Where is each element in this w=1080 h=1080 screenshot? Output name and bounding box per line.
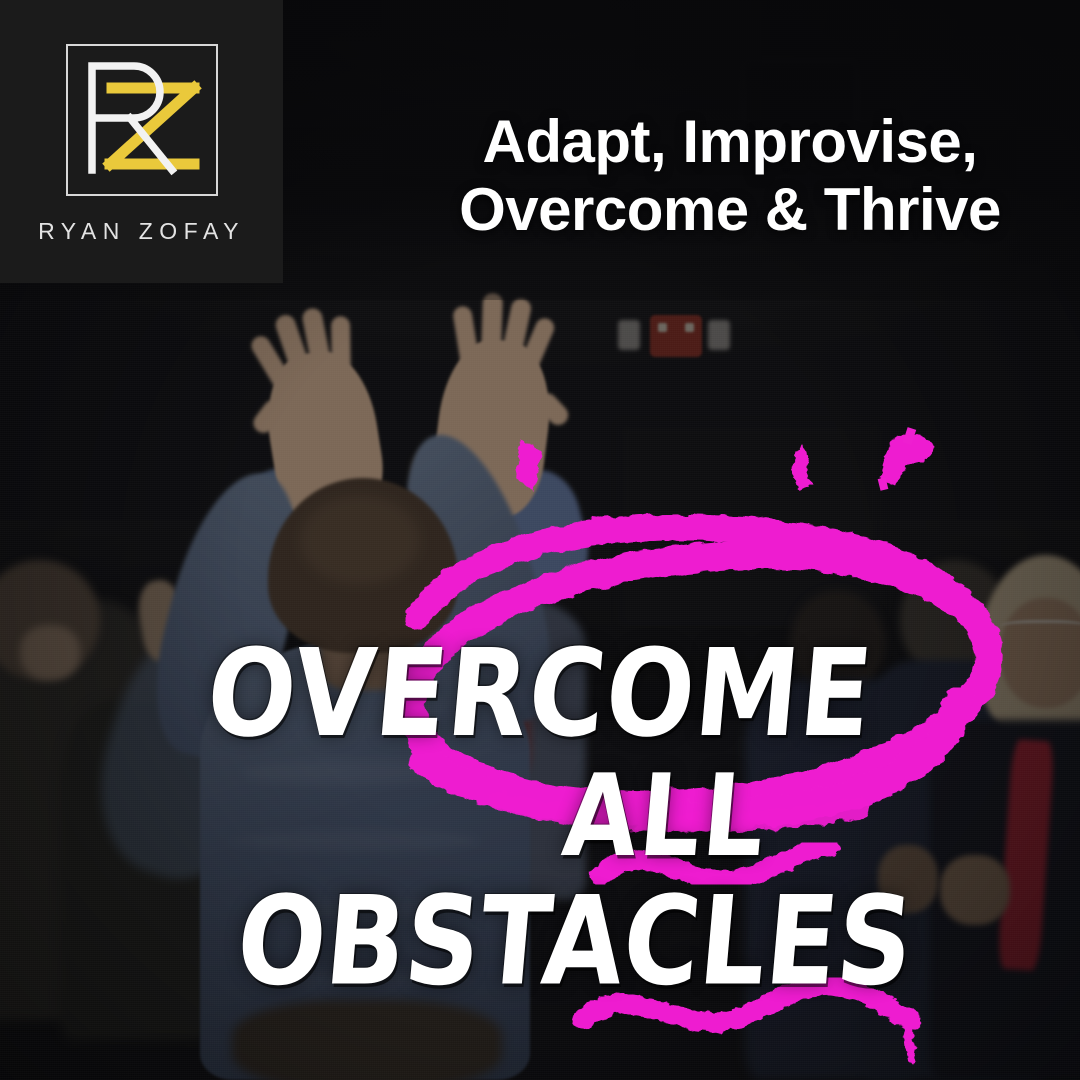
poster-canvas: OVERCOME ALL OBSTACLES Adapt, Improvise,… [0, 0, 1080, 1080]
headline-line-1: Adapt, Improvise, [483, 108, 978, 175]
red-wall-box-icon [650, 315, 702, 357]
brand-logo-block[interactable]: RYAN ZOFAY [0, 0, 283, 283]
rz-monogram-icon [66, 44, 218, 196]
headline-line-2: Overcome & Thrive [400, 176, 1060, 244]
graffiti-line-all: ALL [119, 750, 1080, 882]
graffiti-line-overcome: OVERCOME [0, 622, 1080, 764]
graffiti-line-obstacles: OBSTACLES [29, 869, 1080, 1013]
central-man-hair-highlight [300, 495, 420, 585]
brand-wordmark: RYAN ZOFAY [38, 218, 245, 245]
headline: Adapt, Improvise, Overcome & Thrive [400, 108, 1060, 245]
wall-fixture-right [708, 320, 730, 350]
wall-fixture-left [618, 320, 640, 350]
